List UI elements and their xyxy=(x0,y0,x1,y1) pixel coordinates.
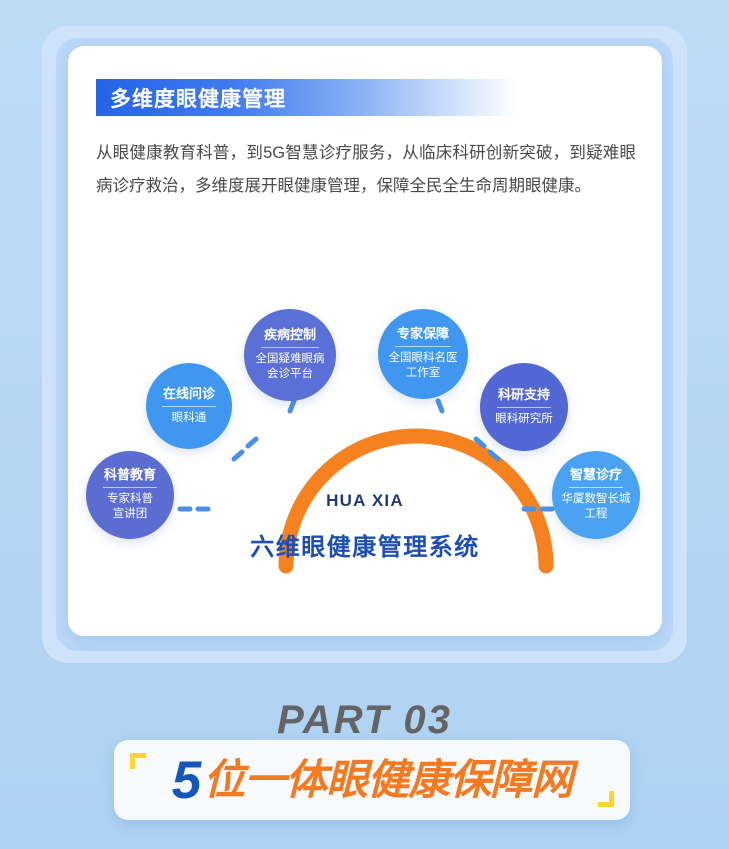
diagram-center-chinese-label: 六维眼健康管理系统 xyxy=(68,527,662,562)
node-subtitle-line1: 全国眼科名医 xyxy=(385,351,462,366)
node-divider xyxy=(261,347,318,348)
node-divider xyxy=(162,406,215,407)
content-card: 多维度眼健康管理 从眼健康教育科普，到5G智慧诊疗服务，从临床科研创新突破，到疑… xyxy=(68,46,662,636)
section-body-text: 从眼健康教育科普，到5G智慧诊疗服务，从临床科研创新突破，到疑难眼病诊疗救治，多… xyxy=(96,137,636,203)
part-headline-number: 5 xyxy=(172,754,201,807)
part-headline-text: 位一体眼健康保障网 xyxy=(203,759,572,801)
node-title: 科普教育 xyxy=(104,468,156,483)
node-online-consultation[interactable]: 在线问诊 眼科通 xyxy=(146,363,232,449)
node-title: 智慧诊疗 xyxy=(570,468,622,483)
section-title: 多维度眼健康管理 xyxy=(110,83,286,113)
node-subtitle-line1: 眼科通 xyxy=(168,411,211,426)
node-title: 科研支持 xyxy=(498,388,550,403)
node-divider xyxy=(569,487,624,488)
node-title: 专家保障 xyxy=(397,327,449,342)
page-root: 多维度眼健康管理 从眼健康教育科普，到5G智慧诊疗服务，从临床科研创新突破，到疑… xyxy=(0,0,729,849)
six-dimension-diagram: 科普教育 专家科普 宣讲团 在线问诊 眼科通 疾病控制 全国疑难眼病 会诊平台 … xyxy=(68,271,662,591)
part-headline-bar: 5 位一体眼健康保障网 xyxy=(114,740,630,820)
node-divider xyxy=(497,407,552,408)
node-title: 在线问诊 xyxy=(163,387,215,402)
node-divider xyxy=(103,487,158,488)
node-subtitle-line2: 会诊平台 xyxy=(263,367,317,382)
section-title-banner: 多维度眼健康管理 xyxy=(96,79,516,116)
node-subtitle-line1: 眼科研究所 xyxy=(491,412,557,427)
node-expert-guarantee[interactable]: 专家保障 全国眼科名医 工作室 xyxy=(378,309,468,399)
node-disease-control[interactable]: 疾病控制 全国疑难眼病 会诊平台 xyxy=(244,309,336,401)
part-headline: 5 位一体眼健康保障网 xyxy=(114,740,630,820)
node-divider xyxy=(395,346,451,347)
part-number-label: PART 03 xyxy=(0,698,729,743)
node-title: 疾病控制 xyxy=(264,328,316,343)
node-subtitle-line1: 全国疑难眼病 xyxy=(252,352,329,367)
node-subtitle-line2: 工作室 xyxy=(402,366,445,381)
diagram-center-english-label: HUA XIA xyxy=(68,491,662,511)
node-research-support[interactable]: 科研支持 眼科研究所 xyxy=(480,363,568,451)
